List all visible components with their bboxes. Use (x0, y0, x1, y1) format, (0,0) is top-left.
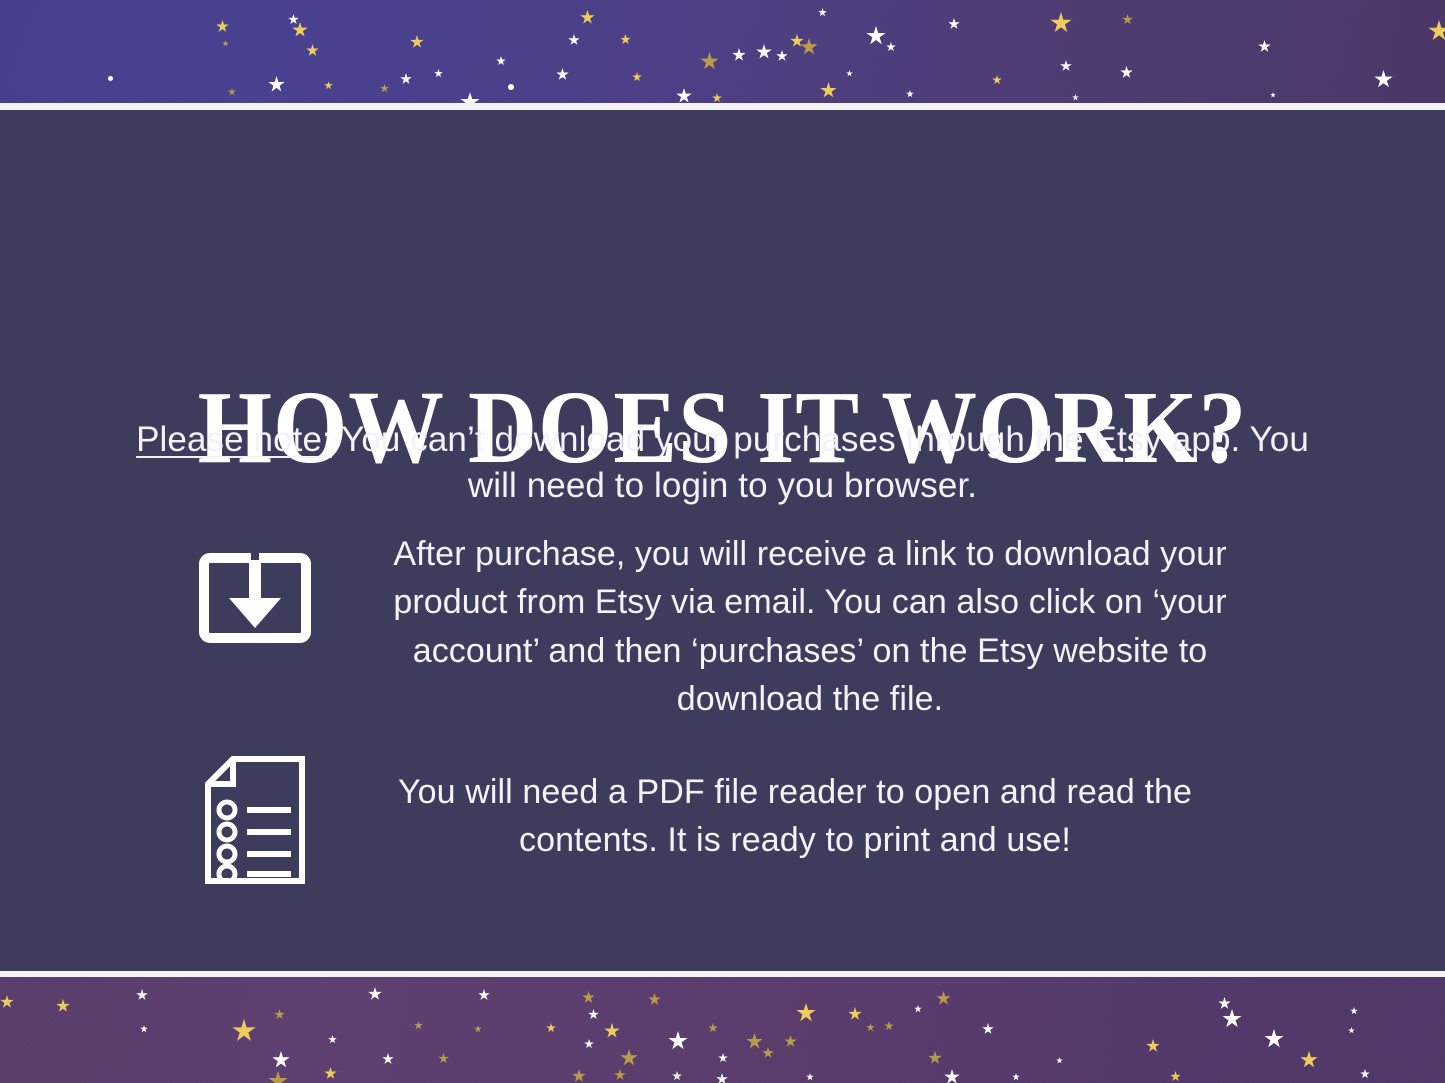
document-checklist-icon (203, 756, 307, 884)
top-divider-line (0, 103, 1445, 110)
star-decoration (508, 84, 514, 90)
download-info-text: After purchase, you will receive a link … (350, 530, 1280, 723)
band-texture-bottom (0, 977, 1445, 1083)
main-content: HOW DOES IT WORK? Please note: You can’t… (0, 110, 1445, 971)
download-icon (196, 548, 314, 648)
slide-canvas: HOW DOES IT WORK? Please note: You can’t… (0, 0, 1445, 1083)
download-info-row: After purchase, you will receive a link … (160, 530, 1280, 723)
starry-bottom-band (0, 977, 1445, 1083)
pdf-info-row: You will need a PDF file reader to open … (160, 738, 1250, 884)
please-note-paragraph: Please note: You can’t download your pur… (110, 417, 1335, 509)
starry-top-band (0, 0, 1445, 104)
pdf-info-text: You will need a PDF file reader to open … (350, 738, 1250, 865)
download-icon-cell (160, 530, 350, 648)
star-decoration (108, 76, 113, 81)
band-texture-top (0, 0, 1445, 104)
please-note-label: Please note: (136, 420, 332, 459)
document-icon-cell (160, 738, 350, 884)
please-note-body: You can’t download your purchases throug… (332, 420, 1309, 505)
